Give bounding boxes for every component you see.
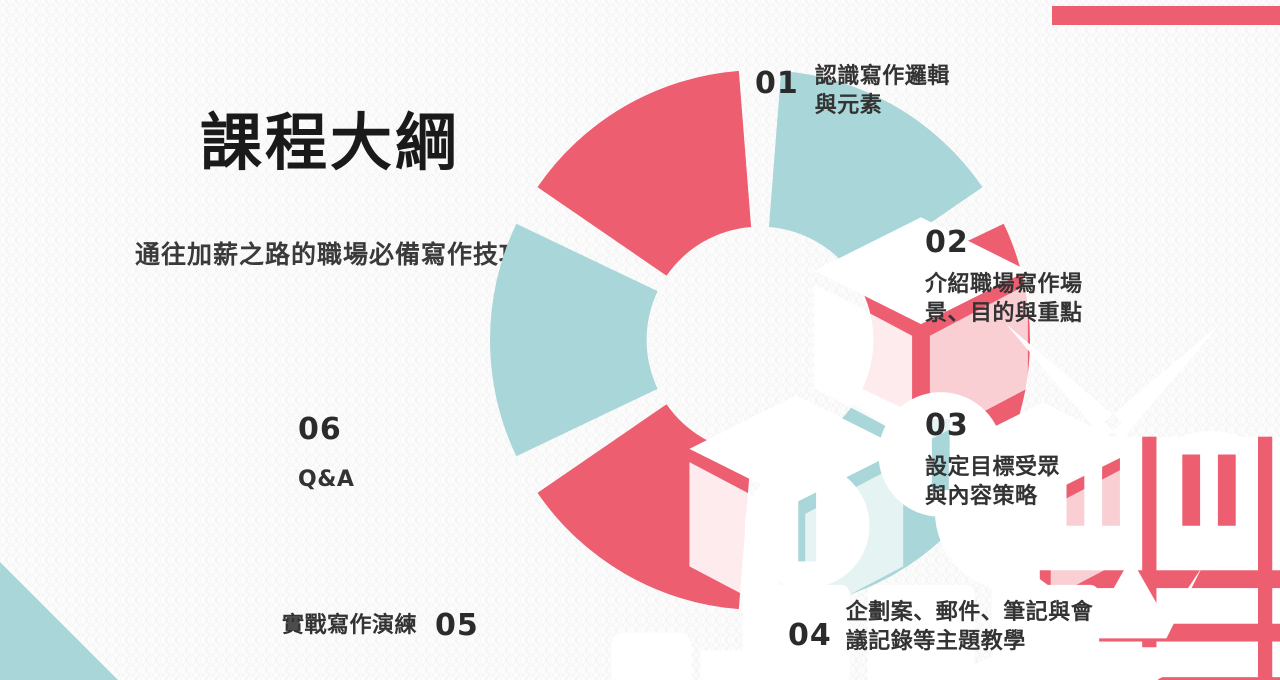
item-text-04: 企劃案、郵件、筆記與會 議記錄等主題教學: [846, 598, 1094, 657]
callout-03: 03 設定目標受眾 與內容策略: [925, 408, 1060, 512]
slide-canvas: 課程大綱 通往加薪之路的職場必備寫作技巧: [0, 0, 1280, 680]
donut-segment-04[interactable]: [537, 404, 751, 609]
item-number-04: 04: [788, 598, 832, 653]
item-text-06: Q&A: [298, 465, 354, 494]
callout-04: 04 企劃案、郵件、筆記與會 議記錄等主題教學: [788, 598, 1093, 657]
item-text-03: 設定目標受眾 與內容策略: [925, 453, 1060, 512]
item-text-05: 實戰寫作演練: [282, 611, 417, 640]
item-number-03: 03: [925, 408, 1060, 443]
callout-01: 01 認識寫作邏輯 與元素: [755, 62, 950, 121]
item-number-01: 01: [755, 62, 799, 101]
item-number-02: 02: [925, 225, 1083, 260]
donut-segment-06[interactable]: [537, 71, 751, 276]
callout-05: 實戰寫作演練 05: [282, 608, 479, 643]
item-number-06: 06: [298, 412, 354, 447]
donut-chart: $: [475, 55, 1045, 625]
callout-02: 02 介紹職場寫作場 景、目的與重點: [925, 225, 1083, 329]
item-number-05: 05: [435, 608, 479, 643]
item-text-02: 介紹職場寫作場 景、目的與重點: [925, 270, 1083, 329]
donut-segment-05[interactable]: [490, 224, 658, 456]
callout-06: 06 Q&A: [298, 412, 354, 494]
item-text-01: 認識寫作邏輯 與元素: [815, 62, 950, 121]
donut-chart-svg: [475, 55, 1045, 625]
